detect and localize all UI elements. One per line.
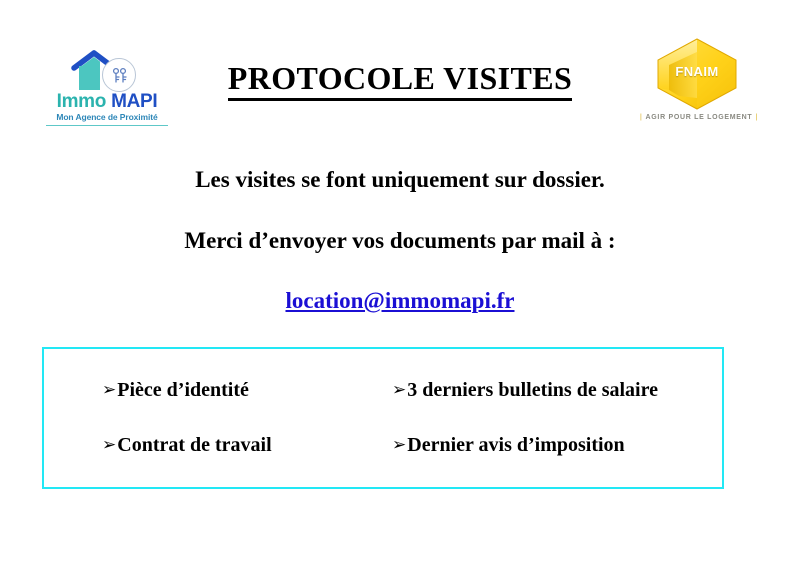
fnaim-tagline-text: AGIR POUR LE LOGEMENT <box>646 114 753 121</box>
list-item: ➢ 3 derniers bulletins de salaire <box>392 378 722 403</box>
immo-mapi-tagline: Mon Agence de Proximité <box>42 112 172 122</box>
fnaim-logo: FNAIM |AGIR POUR LE LOGEMENT| <box>637 38 757 128</box>
immo-mapi-rule <box>46 125 168 126</box>
fnaim-tagline-bar-right: | <box>752 114 761 121</box>
arrow-bullet-icon: ➢ <box>102 433 116 457</box>
list-item-label: Pièce d’identité <box>117 378 249 402</box>
slide-page: Immo MAPI Mon Agence de Proximité PROTOC… <box>0 0 800 565</box>
immo-mapi-logo: Immo MAPI Mon Agence de Proximité <box>42 42 172 127</box>
list-item: ➢ Dernier avis d’imposition <box>392 433 722 458</box>
immo-mapi-word-primary: Immo <box>57 91 106 112</box>
body-line-2: Merci d’envoyer vos documents par mail à… <box>0 227 800 255</box>
key-circle <box>102 58 136 92</box>
body-text: Les visites se font uniquement sur dossi… <box>0 160 800 315</box>
list-item: ➢ Pièce d’identité <box>102 378 392 403</box>
required-documents-grid: ➢ Pièce d’identité ➢ 3 derniers bulletin… <box>44 349 722 487</box>
keys-icon <box>109 65 131 87</box>
arrow-bullet-icon: ➢ <box>102 378 116 402</box>
immo-mapi-word-secondary: MAPI <box>111 91 157 112</box>
fnaim-tagline-bar-left: | <box>637 114 646 121</box>
list-item: ➢ Contrat de travail <box>102 433 392 458</box>
header: Immo MAPI Mon Agence de Proximité PROTOC… <box>0 0 800 140</box>
immo-mapi-mark <box>42 42 172 92</box>
required-documents-box: ➢ Pièce d’identité ➢ 3 derniers bulletin… <box>42 347 724 489</box>
arrow-bullet-icon: ➢ <box>392 433 406 457</box>
list-item-label: 3 derniers bulletins de salaire <box>407 378 658 402</box>
list-item-label: Contrat de travail <box>117 433 271 457</box>
body-line-1: Les visites se font uniquement sur dossi… <box>0 166 800 194</box>
fnaim-cube-icon <box>655 38 739 110</box>
page-title-text: PROTOCOLE VISITES <box>228 60 572 101</box>
email-link[interactable]: location@immomapi.fr <box>285 288 514 313</box>
arrow-bullet-icon: ➢ <box>392 378 406 402</box>
list-item-label: Dernier avis d’imposition <box>407 433 624 457</box>
page-title: PROTOCOLE VISITES <box>180 60 620 101</box>
fnaim-tagline: |AGIR POUR LE LOGEMENT| <box>637 114 757 121</box>
body-line-3: location@immomapi.fr <box>0 287 800 315</box>
immo-mapi-wordmark: Immo MAPI <box>42 92 172 112</box>
